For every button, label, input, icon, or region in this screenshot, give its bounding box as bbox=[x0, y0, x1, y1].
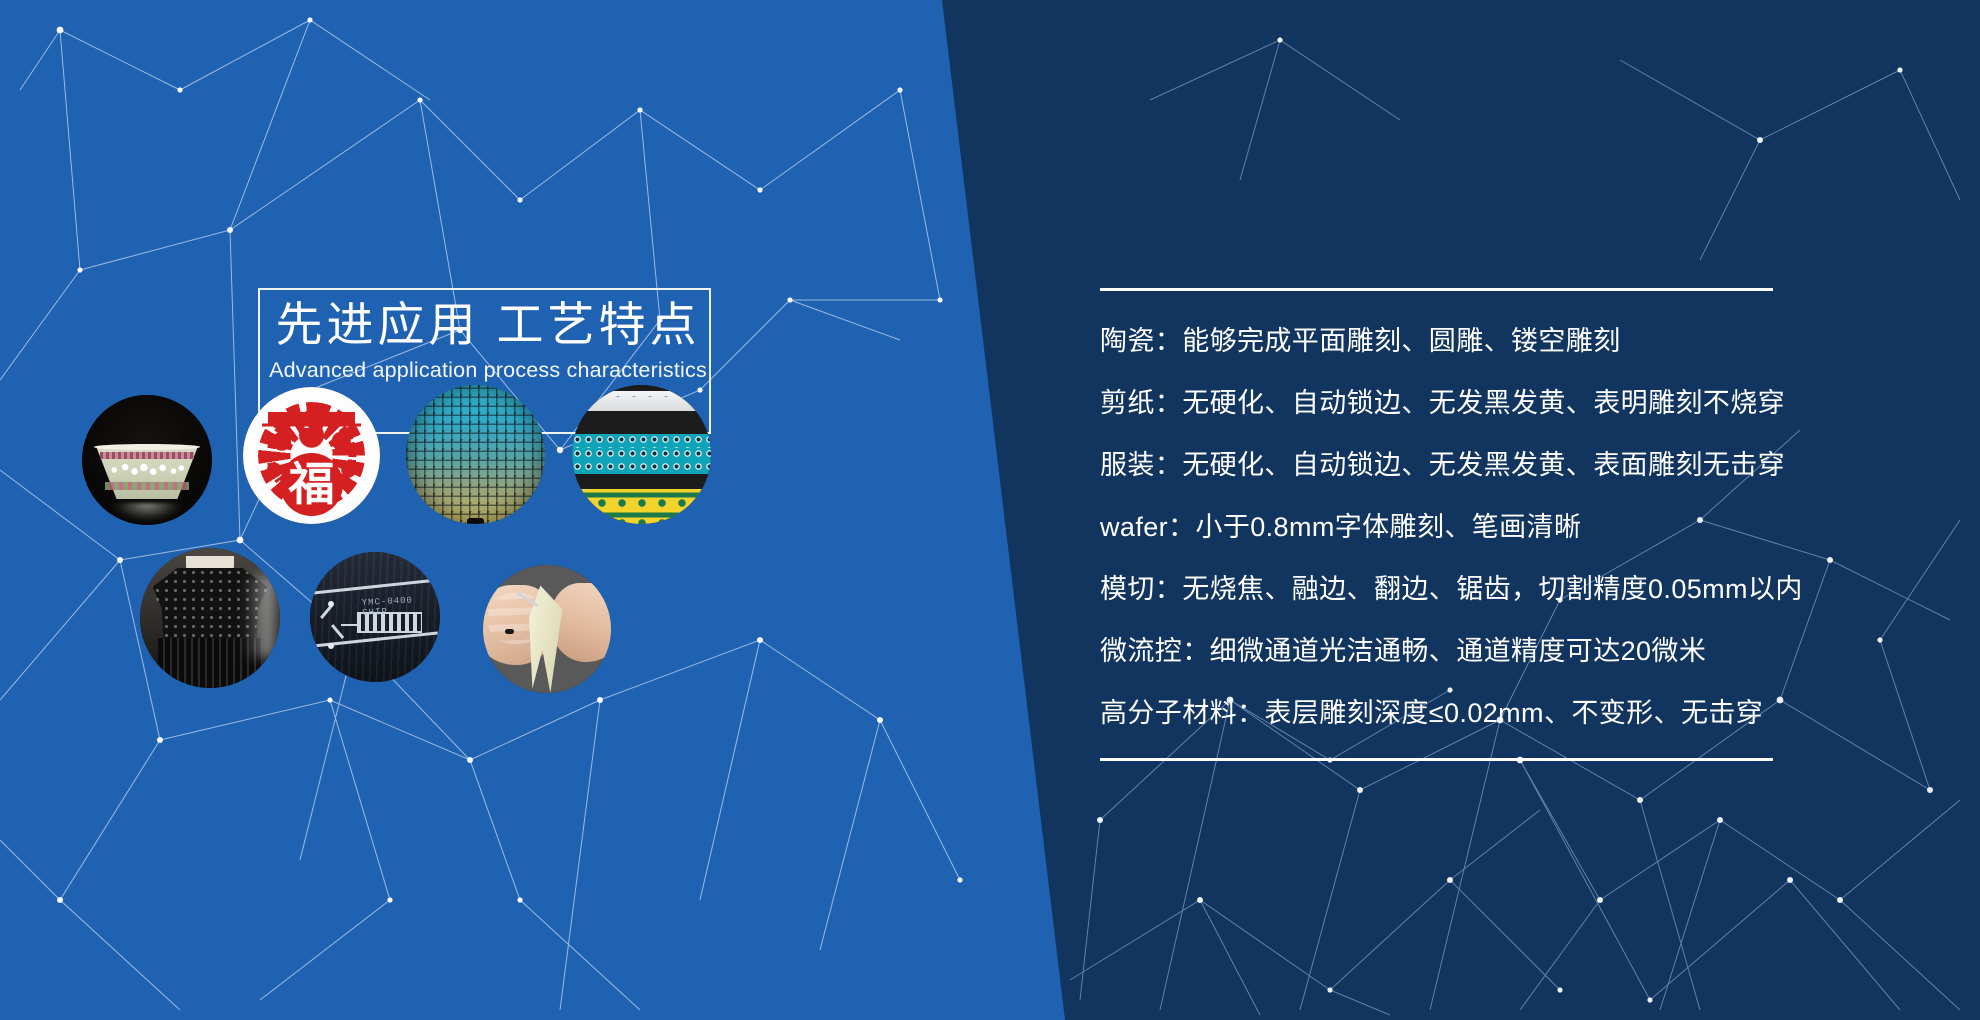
spec-item-polymer: 高分子材料：表层雕刻深度≤0.02mm、不变形、无击穿 bbox=[1100, 682, 1900, 744]
bowl-lower-band bbox=[105, 482, 188, 490]
bowl-rim bbox=[94, 444, 201, 450]
ceramic-bowl-photo bbox=[82, 395, 212, 525]
chip-teal-strip-2 bbox=[572, 448, 711, 462]
spec-item-ceramic: 陶瓷：能够完成平面雕刻、圆雕、镂空雕刻 bbox=[1100, 310, 1900, 372]
microfluidic-chip-photo: YMC-0400 CHIP bbox=[310, 552, 440, 682]
spec-list: 陶瓷：能够完成平面雕刻、圆雕、镂空雕刻 剪纸：无硬化、自动锁边、无发黑发黄、表明… bbox=[1100, 310, 1900, 744]
page-subtitle: Advanced application process characteris… bbox=[228, 358, 748, 383]
papercut-fu-glyph: 福 bbox=[280, 453, 343, 516]
chip-teal-strip-3 bbox=[572, 461, 711, 474]
chip-teal-strip-1 bbox=[572, 434, 711, 448]
chip-teal-dots-3 bbox=[572, 461, 711, 474]
chip-white-strip-dots bbox=[590, 396, 672, 402]
title-block: 先进应用 工艺特点 Advanced application process c… bbox=[228, 300, 748, 383]
spec-item-apparel: 服装：无硬化、自动锁边、无发黑发黄、表面雕刻无击穿 bbox=[1100, 434, 1900, 496]
garment-highlight bbox=[244, 576, 275, 657]
papercut-photo: 福 bbox=[243, 387, 380, 524]
wafer-vignette bbox=[406, 385, 545, 524]
polymer-film-photo bbox=[483, 565, 611, 693]
spec-divider-top bbox=[1100, 288, 1773, 291]
gallery-image-silicon-wafer[interactable] bbox=[406, 385, 545, 524]
page-title: 先进应用 工艺特点 bbox=[228, 300, 748, 349]
spec-item-microfluidics: 微流控：细微通道光洁通畅、通道精度可达20微米 bbox=[1100, 620, 1900, 682]
gallery-image-microfluidic-chip-strips[interactable] bbox=[572, 385, 711, 524]
gallery-image-papercut-fu[interactable]: 福 bbox=[243, 387, 380, 524]
chip-teal-dots-2 bbox=[572, 448, 711, 462]
bowl-rice-pattern bbox=[108, 463, 186, 477]
chip-black-strip-1 bbox=[572, 411, 711, 433]
spec-item-diecut: 模切：无烧焦、融边、翻边、锯齿，切割精度0.05mm以内 bbox=[1100, 558, 1900, 620]
wafer-notch bbox=[467, 518, 484, 524]
chip-yellow-strip bbox=[572, 489, 711, 524]
spec-item-wafer: wafer：小于0.8mm字体雕刻、笔画清晰 bbox=[1100, 496, 1900, 558]
spec-item-papercut: 剪纸：无硬化、自动锁边、无发黑发黄、表明雕刻不烧穿 bbox=[1100, 372, 1900, 434]
chip-black-strip-2 bbox=[572, 474, 711, 489]
chip-strips-photo bbox=[572, 385, 711, 524]
promo-banner: 先进应用 工艺特点 Advanced application process c… bbox=[0, 0, 1980, 1020]
bowl-upper-band bbox=[100, 452, 194, 459]
gallery-image-polymer-film-peel[interactable] bbox=[483, 565, 611, 693]
chip-green-tee-array bbox=[572, 489, 711, 524]
bowl-reflection bbox=[113, 503, 181, 521]
spec-divider-bottom bbox=[1100, 758, 1773, 761]
gallery-image-ceramic-bowl[interactable] bbox=[82, 395, 212, 525]
film-sample-chip bbox=[505, 629, 514, 634]
wafer-photo bbox=[406, 385, 545, 524]
garment-photo bbox=[140, 548, 280, 688]
chip-white-strip bbox=[583, 391, 700, 412]
gallery-image-laser-cut-garment[interactable] bbox=[140, 548, 280, 688]
gallery-image-microfluidic-chip-channel[interactable]: YMC-0400 CHIP bbox=[310, 552, 440, 682]
chip-teal-dots-1 bbox=[572, 434, 711, 448]
